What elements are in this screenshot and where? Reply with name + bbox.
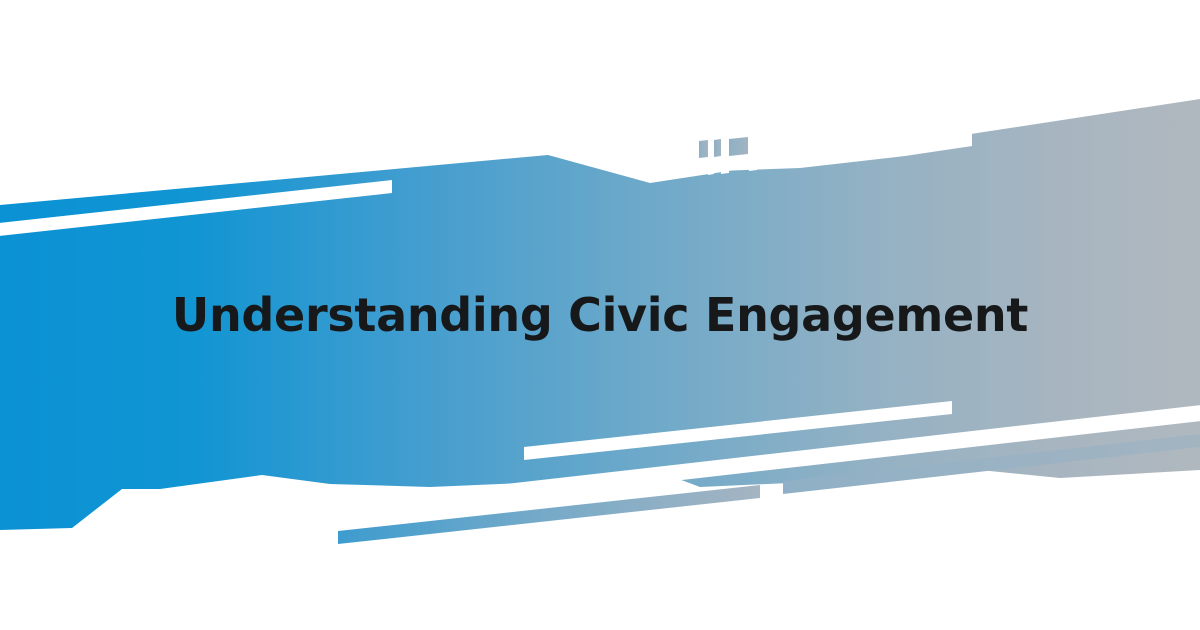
banner-shape-lower-bar (338, 485, 760, 544)
banner-root: Understanding Civic Engagement (0, 0, 1200, 630)
banner-graphic (0, 0, 1200, 630)
banner-dash-marks (699, 137, 748, 158)
